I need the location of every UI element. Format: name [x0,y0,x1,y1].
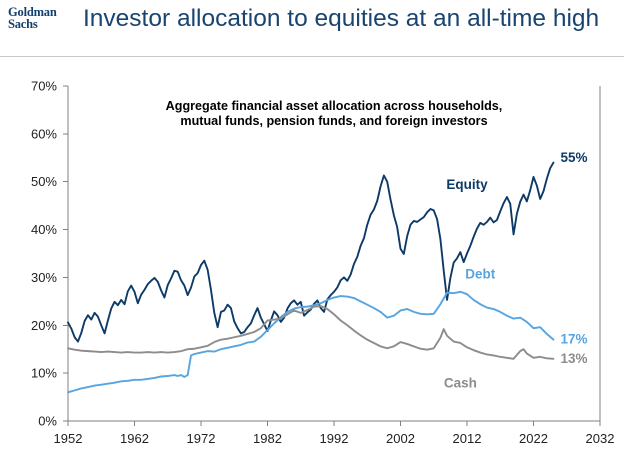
x-axis-tick-label: 1972 [187,431,216,446]
series-label-equity: Equity [446,177,488,192]
axis-lines [68,86,600,421]
x-axis-tick-label: 1962 [120,431,149,446]
y-axis-tick-label: 0% [38,414,57,429]
x-axis-tick-label: 2002 [386,431,415,446]
goldman-sachs-logo: Goldman Sachs [8,7,70,30]
series-end-value-equity: 55% [560,150,587,165]
chart-container: 0%10%20%30%40%50%60%70% 1952196219721982… [0,57,624,455]
annotation-line-1: Aggregate financial asset allocation acr… [166,99,503,113]
x-axis-tick-label: 1952 [54,431,83,446]
y-axis-tick-label: 30% [31,270,57,285]
x-axis-tick-label: 1982 [253,431,282,446]
x-axis-tick-label: 2032 [586,431,615,446]
page-title: Investor allocation to equities at an al… [83,5,599,33]
line-chart: 0%10%20%30%40%50%60%70% 1952196219721982… [0,57,624,455]
series-label-cash: Cash [444,376,477,391]
series-line-cash [68,306,553,359]
series-end-value-debt: 17% [560,332,587,347]
annotation-line-2: mutual funds, pension funds, and foreign… [180,114,487,128]
axis-tick-marks [63,86,600,426]
x-axis-tick-labels: 195219621972198219922002201220222032 [54,431,615,446]
y-axis-tick-label: 20% [31,318,57,333]
x-axis-tick-label: 2022 [519,431,548,446]
y-axis-tick-label: 70% [31,79,57,94]
y-axis-tick-label: 40% [31,222,57,237]
series-labels-group: Equity55%Debt17%Cash13% [444,150,588,391]
page-header: Goldman Sachs Investor allocation to equ… [0,0,624,57]
x-axis-tick-label: 2012 [453,431,482,446]
series-end-value-cash: 13% [560,351,587,366]
chart-page: Goldman Sachs Investor allocation to equ… [0,0,624,455]
series-label-debt: Debt [465,266,496,281]
y-axis-tick-label: 10% [31,366,57,381]
chart-annotation: Aggregate financial asset allocation acr… [166,99,503,128]
y-axis-tick-label: 50% [31,174,57,189]
series-line-debt [68,292,553,393]
y-axis-tick-labels: 0%10%20%30%40%50%60%70% [31,79,57,429]
logo-line-2: Sachs [8,19,70,31]
y-axis-tick-label: 60% [31,126,57,141]
x-axis-tick-label: 1992 [320,431,349,446]
